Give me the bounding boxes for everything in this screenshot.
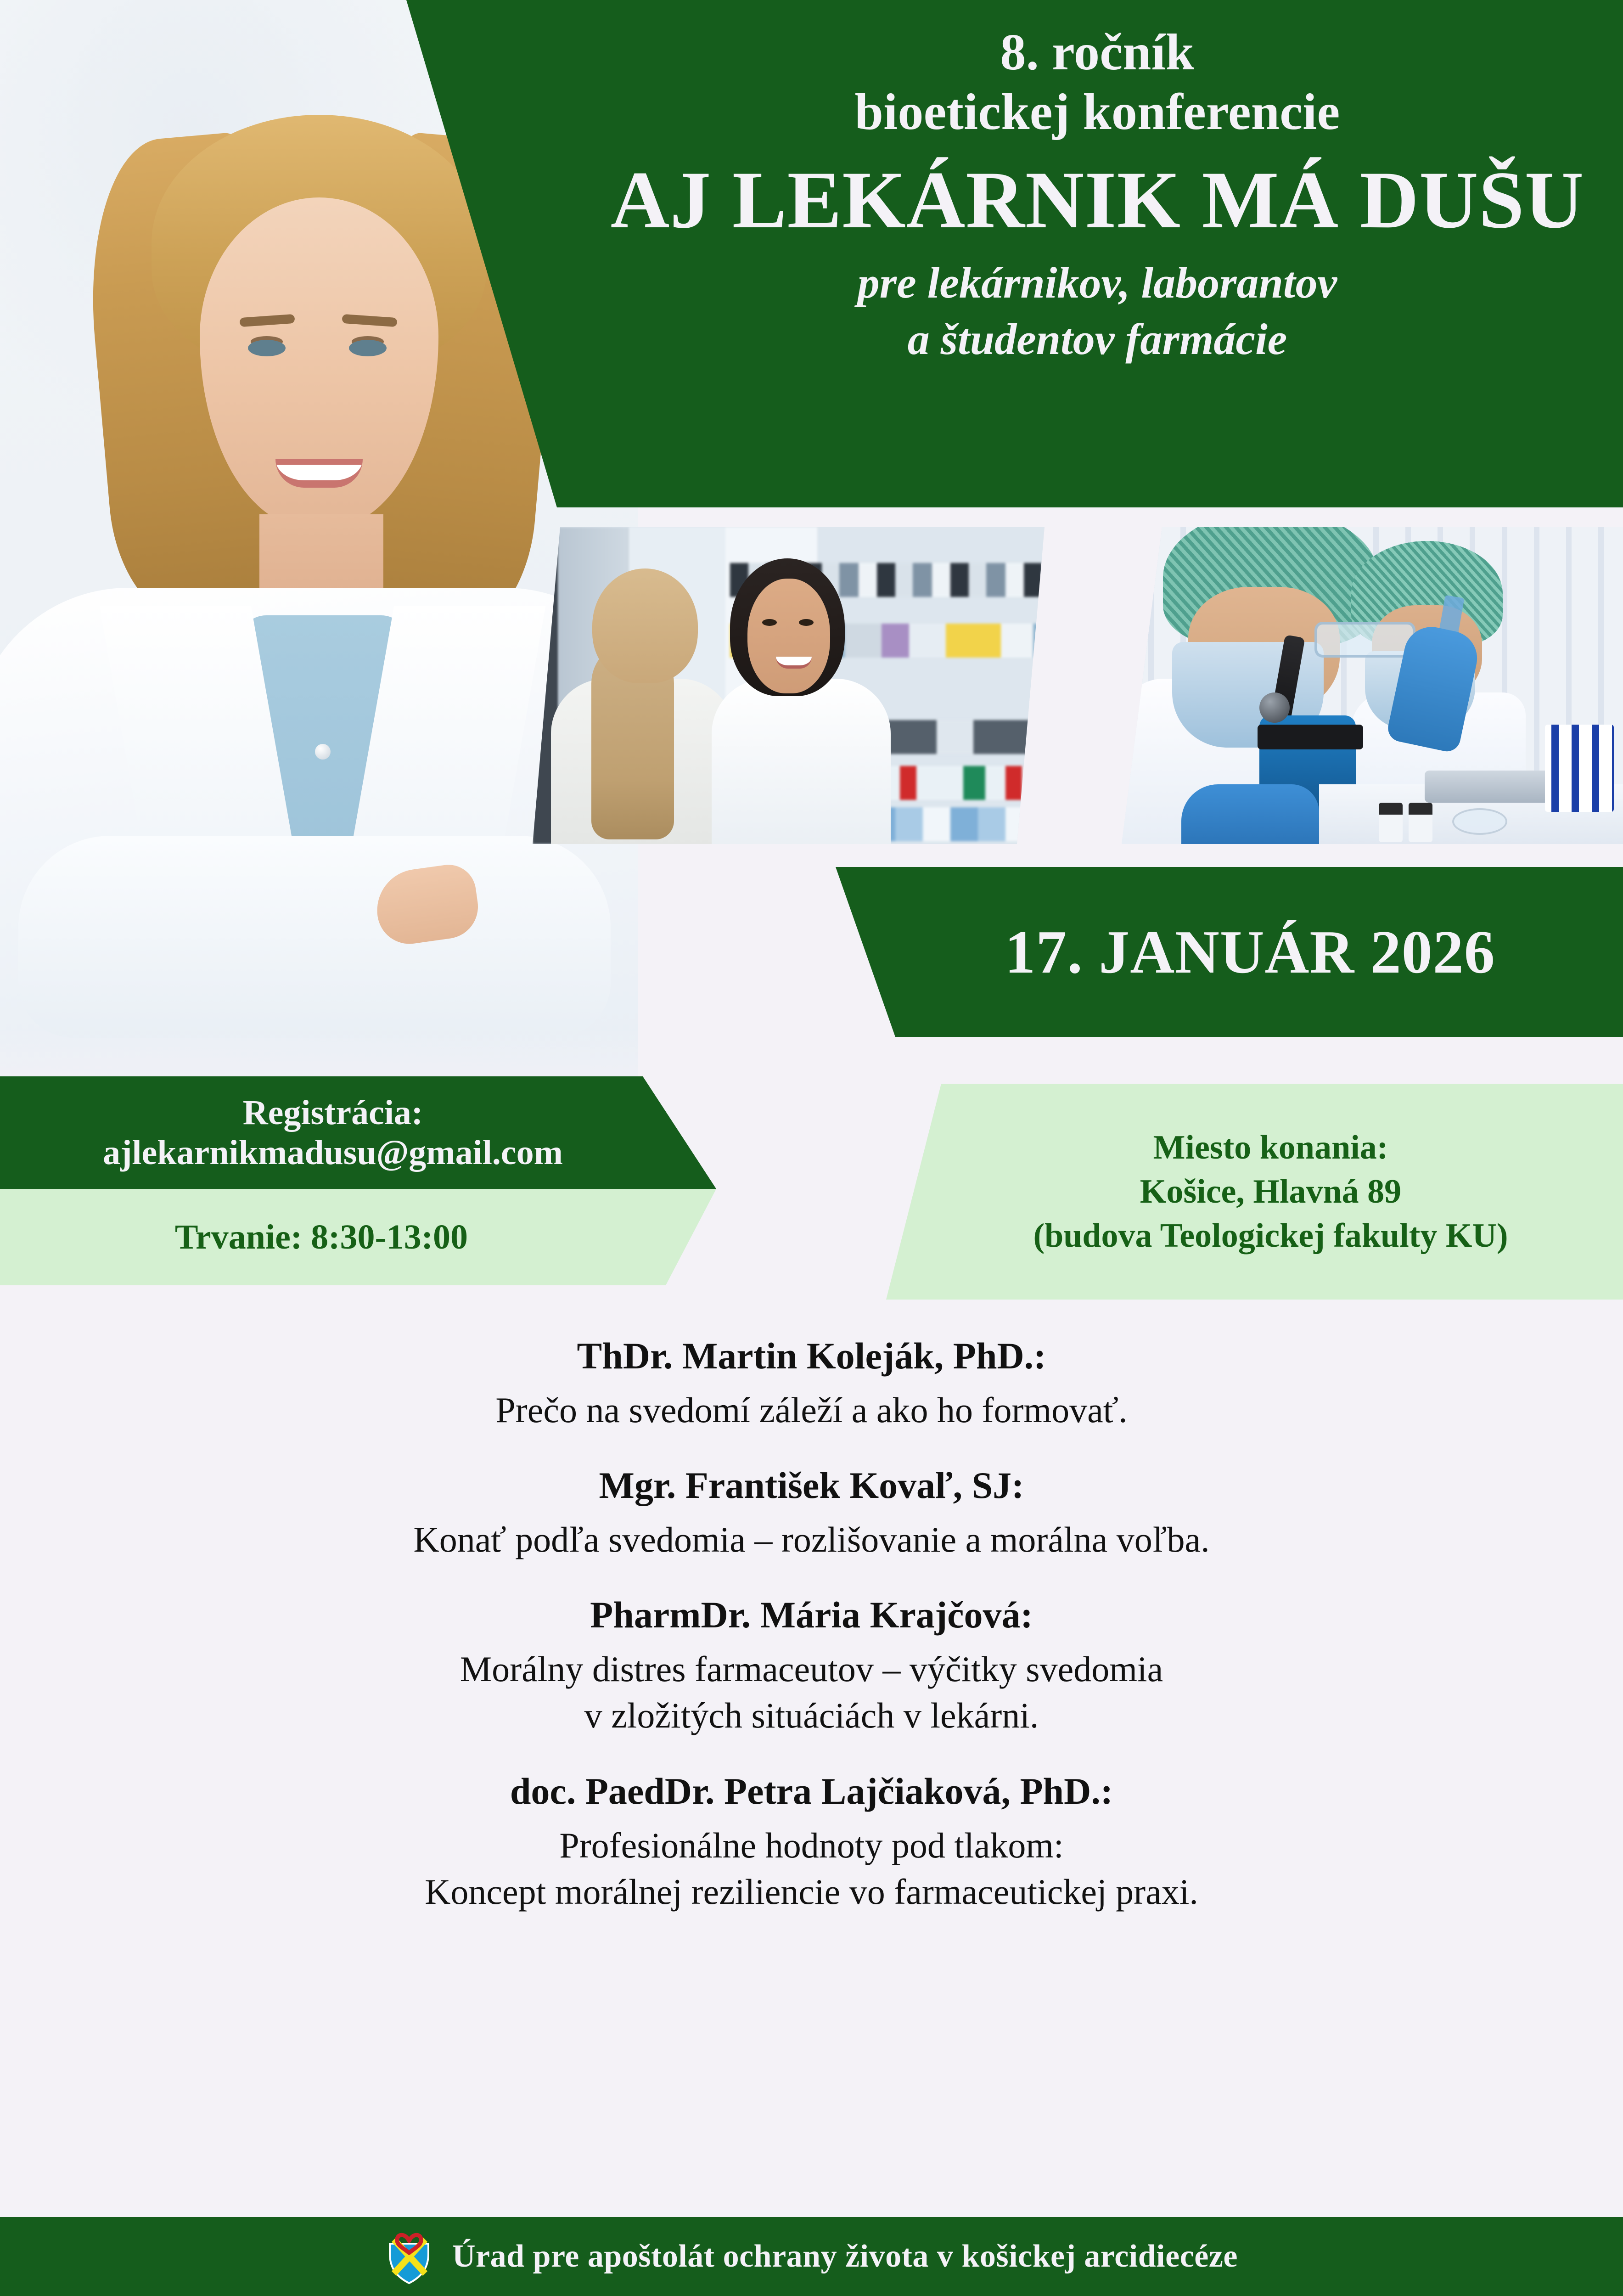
footer-bar: Úrad pre apoštolát ochrany života v koši… <box>0 2217 1623 2296</box>
subtitle-line-1: pre lekárnikov, laborantov <box>858 255 1337 311</box>
speaker-topic-line: Prečo na svedomí záleží a ako ho formova… <box>0 1387 1623 1433</box>
speaker-topic-line: Koncept morálnej reziliencie vo farmaceu… <box>0 1868 1623 1915</box>
cross-heart-logo <box>385 2225 433 2288</box>
speaker-topic-line: Morálny distres farmaceutov – výčitky sv… <box>0 1646 1623 1692</box>
speaker-topic-line: Konať podľa svedomia – rozlišovanie a mo… <box>0 1516 1623 1563</box>
pharmacy-pharmacist-coat <box>712 679 891 844</box>
speaker-name: PharmDr. Mária Krajčová: <box>0 1593 1623 1638</box>
speaker-name: Mgr. František Kovaľ, SJ: <box>0 1463 1623 1508</box>
venue-block: Miesto konania: Košice, Hlavná 89 (budov… <box>886 1084 1623 1300</box>
speaker-entry: PharmDr. Mária Krajčová: Morálny distres… <box>0 1593 1623 1739</box>
poster-title: AJ LEKÁRNIK MÁ DUŠU <box>611 157 1584 243</box>
lab-test-tube-rack <box>1545 725 1614 812</box>
header-text-block: 8. ročník bioetickej konferencie AJ LEKÁ… <box>572 0 1623 507</box>
speaker-topic-line: v zložitých situáciách v lekárni. <box>0 1692 1623 1739</box>
lab-petri-dish <box>1452 808 1507 835</box>
conference-poster: 8. ročník bioetickej konferencie AJ LEKÁ… <box>0 0 1623 2296</box>
lab-vial <box>1409 803 1432 842</box>
poster-subtitle: pre lekárnikov, laborantov a študentov f… <box>858 255 1337 368</box>
speaker-entry: ThDr. Martin Koleják, PhD.: Prečo na sve… <box>0 1334 1623 1433</box>
registration-block: Registrácia: ajlekarnikmadusu@gmail.com <box>0 1076 666 1189</box>
kicker-line-2: bioetickej konferencie <box>855 83 1340 142</box>
lab-gloved-hand-left <box>1181 784 1319 844</box>
venue-building: (budova Teologickej fakulty KU) <box>1033 1214 1508 1258</box>
pharmacy-pharmacist-eye <box>799 619 814 626</box>
speaker-name: ThDr. Martin Koleják, PhD.: <box>0 1334 1623 1379</box>
speaker-name: doc. PaedDr. Petra Lajčiaková, PhD.: <box>0 1769 1623 1814</box>
organizer-name: Úrad pre apoštolát ochrany života v koši… <box>452 2238 1238 2275</box>
microscope-focus-knob <box>1259 692 1290 723</box>
registration-label: Registrácia: <box>243 1093 423 1133</box>
pharmacy-pharmacist-face <box>747 579 830 693</box>
speakers-list: ThDr. Martin Koleják, PhD.: Prečo na sve… <box>0 1334 1623 1945</box>
portrait-coat-button <box>315 744 331 760</box>
pharmacy-consultation-photo <box>533 527 1045 844</box>
venue-label: Miesto konania: <box>1153 1125 1388 1170</box>
lab-vial <box>1379 803 1403 842</box>
venue-address: Košice, Hlavná 89 <box>1140 1170 1401 1214</box>
portrait-eye-left <box>248 340 286 356</box>
speaker-entry: Mgr. František Kovaľ, SJ: Konať podľa sv… <box>0 1463 1623 1563</box>
conference-kicker: 8. ročník bioetickej konferencie <box>855 23 1340 142</box>
registration-email[interactable]: ajlekarnikmadusu@gmail.com <box>103 1133 563 1173</box>
event-duration: Trvanie: 8:30-13:00 <box>0 1189 643 1285</box>
portrait-crossed-arms <box>18 836 611 1038</box>
speaker-entry: doc. PaedDr. Petra Lajčiaková, PhD.: Pro… <box>0 1769 1623 1915</box>
event-date: 17. JANUÁR 2026 <box>822 867 1623 1037</box>
portrait-eye-right <box>349 340 387 356</box>
lab-safety-goggles <box>1314 622 1415 658</box>
pharmacy-customer-head <box>592 568 698 683</box>
lab-metal-tray <box>1425 771 1553 803</box>
microscope-stage <box>1258 725 1363 749</box>
laboratory-photo <box>1122 527 1623 844</box>
subtitle-line-2: a študentov farmácie <box>858 311 1337 368</box>
pharmacy-pharmacist-eye <box>762 619 777 626</box>
speaker-topic-line: Profesionálne hodnoty pod tlakom: <box>0 1822 1623 1868</box>
kicker-line-1: 8. ročník <box>855 23 1340 83</box>
